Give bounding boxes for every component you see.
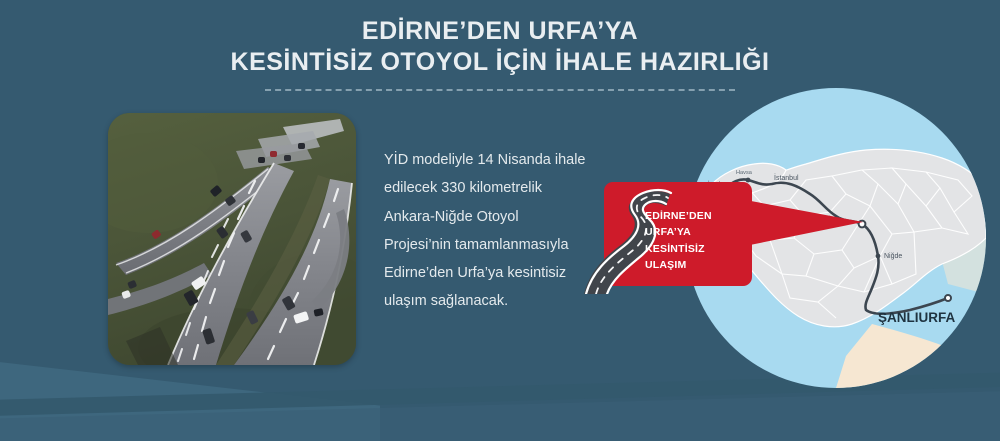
body-line: YİD modeliyle 14 Nisanda ihale: [384, 146, 600, 174]
page-title-line-1: EDİRNE’DEN URFA’YA: [0, 16, 1000, 47]
map-label-havsa: Havsa: [736, 170, 753, 176]
highway-photo-card: [108, 113, 356, 365]
callout-text-block: EDİRNE’DEN URFA’YA KESİNTİSİZ ULAŞIM: [645, 208, 749, 273]
title-dashed-divider: [265, 89, 735, 91]
callout-badge: EDİRNE’DEN URFA’YA KESİNTİSİZ ULAŞIM: [604, 182, 752, 286]
page-title-line-2: KESİNTİSİZ OTOYOL İÇİN İHALE HAZIRLIĞI: [0, 47, 1000, 78]
infographic-canvas: EDİRNE’DEN URFA’YA KESİNTİSİZ OTOYOL İÇİ…: [0, 0, 1000, 441]
map-label-ankara: Ankara: [820, 216, 842, 223]
body-line: edilecek 330 kilometrelik: [384, 174, 600, 202]
map-node-sanliurfa: [945, 295, 951, 301]
callout-line-1: EDİRNE’DEN: [645, 208, 749, 224]
highway-render-image: [108, 113, 356, 365]
callout-line-2: URFA’YA KESİNTİSİZ: [645, 224, 749, 257]
body-line: Ankara-Niğde Otoyol: [384, 203, 600, 231]
body-line: Edirne’den Urfa’ya kesintisiz: [384, 259, 600, 287]
callout-line-3: ULAŞIM: [645, 257, 749, 273]
body-line: Projesi’nin tamamlanmasıyla: [384, 231, 600, 259]
body-paragraph: YİD modeliyle 14 Nisanda ihale edilecek …: [384, 146, 600, 316]
map-label-nigde: Niğde: [884, 253, 902, 260]
map-label-istanbul: İstanbul: [774, 173, 799, 182]
map-node-nigde: [876, 254, 881, 259]
map-label-sanliurfa: ŞANLIURFA: [878, 310, 956, 325]
map-node-ankara: [859, 221, 866, 228]
page-header: EDİRNE’DEN URFA’YA KESİNTİSİZ OTOYOL İÇİ…: [0, 16, 1000, 91]
body-line: ulaşım sağlanacak.: [384, 287, 600, 315]
